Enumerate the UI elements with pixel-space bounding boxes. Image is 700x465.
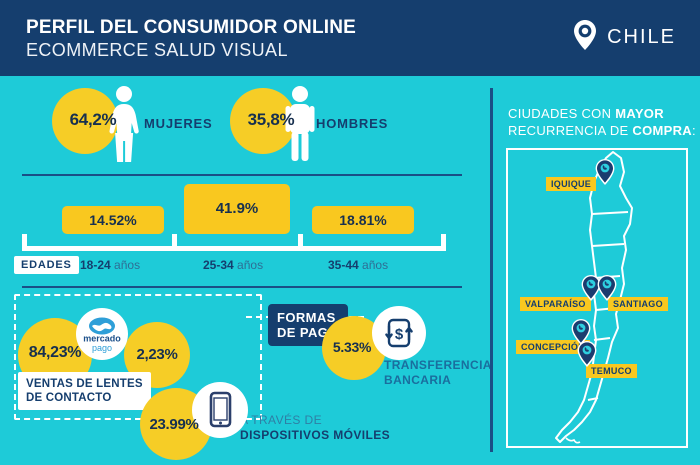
- map-pin-icon-temuco[interactable]: [576, 340, 598, 373]
- mobile-label-line1: A TRAVÉS DE: [240, 413, 322, 427]
- age-bar-25-34: 41.9%: [184, 184, 290, 234]
- bracket-tick-2: [298, 234, 303, 248]
- formas-badge-line1: FORMAS: [277, 310, 339, 325]
- mercado-pago-text-line2: pago: [92, 343, 112, 353]
- age-unit-1: años: [114, 258, 140, 272]
- mobile-label-line2: DISPOSITIVOS MÓVILES: [240, 428, 390, 443]
- age-bar-35-44: 18.81%: [312, 206, 414, 234]
- bracket-baseline: [22, 246, 446, 251]
- payment-percent-credit: 2,23%: [124, 346, 190, 363]
- map-pin-icon-santiago[interactable]: [596, 274, 618, 307]
- ages-labels: EDADES 18-24 años 25-34 años 35-44 años: [0, 256, 484, 278]
- city-label-iquique[interactable]: IQUIQUE: [546, 177, 596, 191]
- map-panel-divider: [490, 88, 493, 452]
- map-heading-suffix: :: [692, 123, 696, 138]
- age-unit-3: años: [362, 258, 388, 272]
- age-bar-18-24: 14.52%: [62, 206, 164, 234]
- mobile-devices-label: A TRAVÉS DE DISPOSITIVOS MÓVILES: [240, 413, 390, 443]
- brand-logo: CHILE: [572, 19, 676, 56]
- age-label-35-44: 35-44 años: [328, 258, 388, 272]
- payment-percent-transfer: 5.33%: [320, 339, 384, 355]
- gender-label-women: MUJERES: [144, 116, 212, 131]
- gender-percent-women: 64,2%: [58, 110, 128, 130]
- age-unit-2: años: [237, 258, 263, 272]
- bracket-tick-end: [441, 234, 446, 248]
- bracket-tick-1: [172, 234, 177, 248]
- map-heading-bold1: MAYOR: [615, 106, 664, 121]
- bracket-tick-start: [22, 234, 27, 248]
- brand-label: CHILE: [607, 26, 676, 49]
- map-heading: CIUDADES CON MAYOR RECURRENCIA DE COMPRA…: [508, 105, 696, 139]
- map-heading-part2: RECURRENCIA DE: [508, 123, 632, 138]
- payment-caption-transfer: TRANSFERENCIA BANCARIA: [384, 358, 492, 388]
- page-title: PERFIL DEL CONSUMIDOR ONLINE: [26, 17, 356, 39]
- edades-badge: EDADES: [14, 256, 79, 274]
- section-divider-2: [22, 286, 462, 288]
- ventas-badge-line2: DE CONTACTO: [26, 391, 143, 405]
- ages-bracket: [0, 234, 484, 250]
- svg-text:$: $: [395, 326, 404, 343]
- transfer-caption-line2: BANCARIA: [384, 373, 492, 388]
- age-label-25-34: 25-34 años: [203, 258, 263, 272]
- location-pin-icon: [572, 19, 598, 56]
- map-pin-icon-iquique[interactable]: [594, 158, 616, 191]
- left-content-column: 64,2% MUJERES 35,8%: [0, 76, 484, 465]
- map-frame: IQUIQUE VALPARAÍSO SANTIAGO: [506, 148, 688, 448]
- header-bar: PERFIL DEL CONSUMIDOR ONLINE ECOMMERCE S…: [0, 0, 700, 76]
- section-divider-1: [22, 174, 462, 176]
- gender-percent-men: 35,8%: [236, 110, 306, 130]
- transfer-caption-line1: TRANSFERENCIA: [384, 358, 492, 373]
- mercado-pago-text-line1: mercado: [83, 334, 121, 344]
- payment-percent-debit: 84,23%: [18, 344, 92, 362]
- age-range-18-24: 18-24: [80, 258, 111, 272]
- ventas-lentes-badge: VENTAS DE LENTES DE CONTACTO: [18, 372, 151, 410]
- age-range-35-44: 35-44: [328, 258, 359, 272]
- age-range-25-34: 25-34: [203, 258, 234, 272]
- gender-label-men: HOMBRES: [316, 116, 388, 131]
- infographic-root: PERFIL DEL CONSUMIDOR ONLINE ECOMMERCE S…: [0, 0, 700, 465]
- map-heading-part1: CIUDADES CON: [508, 106, 615, 121]
- mobile-percent: 23.99%: [138, 416, 210, 433]
- ventas-badge-line1: VENTAS DE LENTES: [26, 377, 143, 391]
- map-heading-bold2: COMPRA: [632, 123, 692, 138]
- gender-section: 64,2% MUJERES 35,8%: [0, 84, 484, 168]
- page-subtitle: ECOMMERCE SALUD VISUAL: [26, 40, 288, 61]
- age-label-18-24: 18-24 años: [80, 258, 140, 272]
